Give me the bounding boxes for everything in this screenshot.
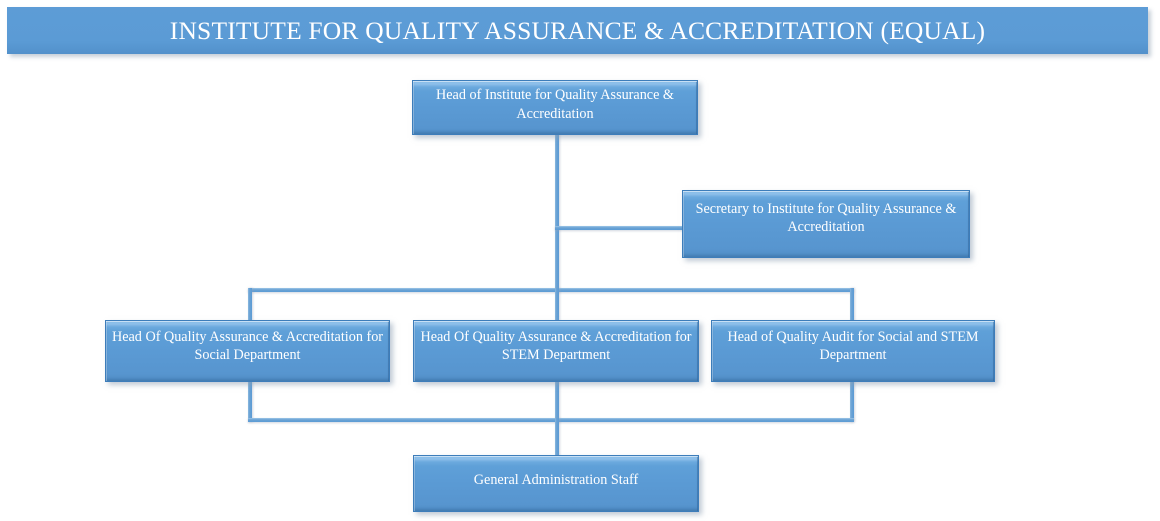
connector-department-bus-top	[248, 288, 854, 292]
org-node-head-of-institute[interactable]: Head of Institute for Quality Assurance …	[412, 80, 698, 135]
connector-head-to-secretary	[555, 226, 686, 230]
org-node-label: Head Of Quality Assurance & Accreditatio…	[106, 328, 389, 364]
connector-bus-to-admin	[555, 418, 559, 458]
org-chart-canvas: INSTITUTE FOR QUALITY ASSURANCE & ACCRED…	[0, 0, 1160, 521]
org-node-label: Head Of Quality Assurance & Accreditatio…	[414, 328, 698, 364]
connector-audit-to-bus-bottom	[850, 380, 854, 422]
org-node-general-administration-staff[interactable]: General Administration Staff	[413, 455, 699, 512]
page-title: INSTITUTE FOR QUALITY ASSURANCE & ACCRED…	[7, 16, 1148, 44]
connector-social-to-bus-bottom	[248, 380, 252, 422]
org-node-head-qa-social[interactable]: Head Of Quality Assurance & Accreditatio…	[105, 320, 390, 382]
connector-drop-to-social	[248, 288, 252, 322]
org-node-head-quality-audit[interactable]: Head of Quality Audit for Social and STE…	[711, 320, 995, 382]
org-node-label: Head of Quality Audit for Social and STE…	[712, 328, 994, 364]
org-node-label: General Administration Staff	[414, 471, 698, 489]
org-node-label: Secretary to Institute for Quality Assur…	[683, 200, 969, 236]
connector-drop-to-stem	[555, 288, 559, 322]
org-node-secretary[interactable]: Secretary to Institute for Quality Assur…	[682, 190, 970, 258]
org-node-head-qa-stem[interactable]: Head Of Quality Assurance & Accreditatio…	[413, 320, 699, 382]
connector-head-trunk	[555, 134, 559, 292]
chart-title-banner: INSTITUTE FOR QUALITY ASSURANCE & ACCRED…	[7, 7, 1148, 54]
connector-stem-to-bus-bottom	[555, 380, 559, 422]
connector-drop-to-audit	[850, 288, 854, 322]
connector-department-bus-bottom	[248, 418, 854, 422]
org-node-label: Head of Institute for Quality Assurance …	[413, 86, 697, 122]
